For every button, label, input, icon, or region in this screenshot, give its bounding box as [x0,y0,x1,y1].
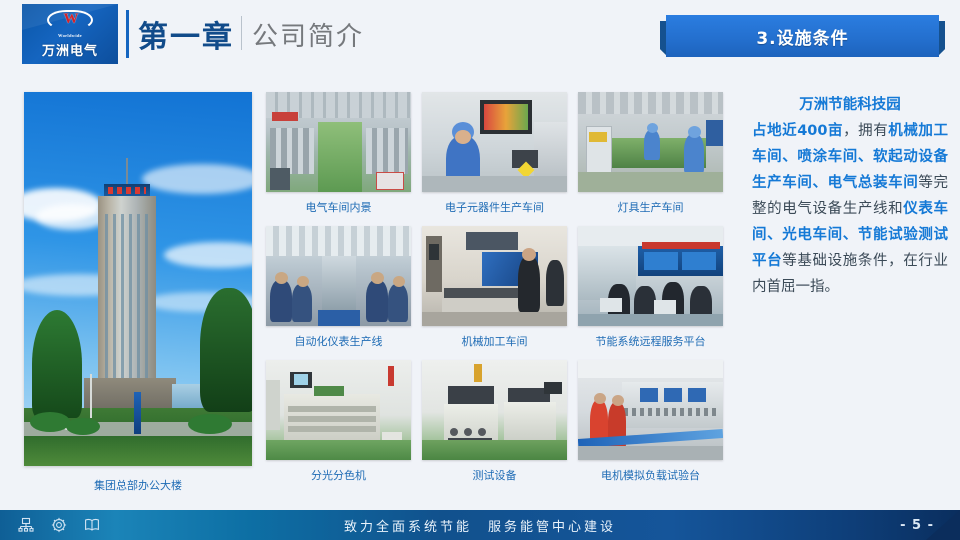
gallery-item: 电机模拟负载试验台 [578,360,723,483]
gallery-caption: 灯具生产车间 [578,199,723,215]
gallery-caption: 电机模拟负载试验台 [578,467,723,483]
gallery-item: 电气车间内景 [266,92,411,215]
section-badge: 3.设施条件 [660,15,945,57]
description-plain: 等基础设施条件，在行业内首屈一指。 [752,253,948,295]
gallery-caption: 分光分色机 [266,467,411,483]
description-panel: 万洲节能科技园占地近400亩，拥有机械加工车间、喷涂车间、软起动设备生产车间、电… [752,92,948,492]
logo-latin-text: Worldwide [58,33,82,38]
gallery-caption: 电子元器件生产车间 [422,199,567,215]
photo-electrical-workshop [266,92,411,192]
photo-remote-service-platform [578,226,723,326]
hero-caption: 集团总部办公大楼 [24,477,252,493]
page-subtitle: 公司简介 [252,16,364,53]
company-logo: W Worldwide 万洲电气 [22,4,118,64]
gallery-item: 机械加工车间 [422,226,567,349]
page-number: - 5 - [900,518,934,533]
photo-color-sorter-machine [266,360,411,460]
photo-machining-workshop [422,226,567,326]
slide-footer: 致力全面系统节能 服务能管中心建设 - 5 - [0,510,960,540]
description-plain: ，拥有 [843,123,888,139]
description-lead: 万洲节能科技园 [752,92,948,118]
logo-company-name: 万洲电气 [42,40,98,59]
chapter-title: 第一章 [138,12,234,56]
photo-component-production [422,92,567,192]
footer-slogan: 致力全面系统节能 服务能管中心建设 [0,516,960,535]
section-badge-label: 3.设施条件 [756,24,848,49]
gallery-caption: 自动化仪表生产线 [266,333,411,349]
gallery-caption: 电气车间内景 [266,199,411,215]
description-text: 万洲节能科技园占地近400亩，拥有机械加工车间、喷涂车间、软起动设备生产车间、电… [752,92,948,300]
gallery-item: 节能系统远程服务平台 [578,226,723,349]
gallery-caption: 测试设备 [422,467,567,483]
gallery-item: 自动化仪表生产线 [266,226,411,349]
emblem-letter: W [47,11,93,28]
description-highlight: 占地近400亩 [752,123,843,139]
gallery-caption: 机械加工车间 [422,333,567,349]
gallery-item: 电子元器件生产车间 [422,92,567,215]
photo-motor-load-test-bench [578,360,723,460]
section-badge-body: 3.设施条件 [666,15,939,57]
photo-instrument-assembly-line [266,226,411,326]
headquarters-building-photo [24,92,252,466]
gallery-caption: 节能系统远程服务平台 [578,333,723,349]
gallery-item: 测试设备 [422,360,567,483]
title-divider [126,10,129,58]
description-segments: 占地近400亩，拥有机械加工车间、喷涂车间、软起动设备生产车间、电气总装车间等完… [752,123,948,295]
gallery-item: 分光分色机 [266,360,411,483]
slide-header: W Worldwide 万洲电气 第一章 公司简介 3.设施条件 [0,0,960,78]
w-emblem-icon: W [47,10,93,32]
gallery-item: 灯具生产车间 [578,92,723,215]
photo-lamp-production [578,92,723,192]
photo-test-equipment [422,360,567,460]
subtitle-divider [241,16,242,50]
